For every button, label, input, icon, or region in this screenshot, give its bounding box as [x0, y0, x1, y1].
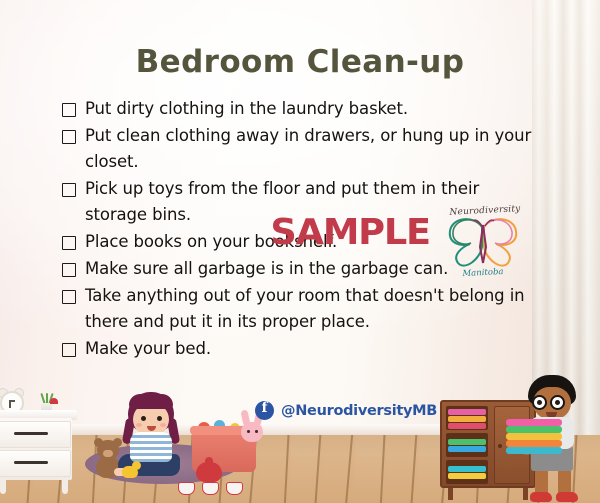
floor-plank [283, 435, 290, 503]
floor-plank-shade [387, 435, 415, 503]
alarm-clock-icon [0, 388, 22, 412]
floor-plank [344, 435, 354, 503]
logo-top-label: Neurodiversity [444, 204, 526, 218]
sample-watermark: SAMPLE [270, 212, 429, 253]
checkbox[interactable] [62, 103, 76, 117]
checklist-item[interactable]: Put clean clothing away in drawers, or h… [62, 123, 532, 175]
poster: Bedroom Clean-up Put dirty clothing in t… [0, 0, 600, 503]
white-nightstand [0, 388, 77, 503]
checkbox[interactable] [62, 290, 76, 304]
floor-plank [410, 435, 418, 503]
checklist-item-label: Take anything out of your room that does… [85, 283, 532, 335]
checklist-item-label: Put dirty clothing in the laundry basket… [85, 96, 408, 122]
boy-character [520, 375, 590, 503]
checklist-item[interactable]: Make your bed. [62, 336, 532, 362]
checkbox[interactable] [62, 263, 76, 277]
page-title: Bedroom Clean-up [0, 44, 600, 80]
floor-plank-shade [323, 435, 351, 503]
toy-tea-set [180, 462, 250, 496]
social-handle[interactable]: @NeurodiversityMB [255, 401, 437, 420]
rubber-duck-toy [122, 466, 138, 478]
checklist-item-label: Put clean clothing away in drawers, or h… [85, 123, 532, 175]
floor-plank-shade [355, 435, 383, 503]
butterfly-icon [444, 217, 522, 269]
neurodiversity-manitoba-logo: Neurodiversity Manitoba [440, 206, 526, 284]
floor-plank [314, 435, 322, 503]
floor-plank [379, 435, 386, 503]
checklist-item[interactable]: Put dirty clothing in the laundry basket… [62, 96, 532, 122]
checkbox[interactable] [62, 130, 76, 144]
checklist-item[interactable]: Take anything out of your room that does… [62, 283, 532, 335]
checklist-item-label: Make your bed. [85, 336, 211, 362]
checklist-item-label: Make sure all garbage is in the garbage … [85, 256, 448, 282]
facebook-icon[interactable] [255, 401, 274, 420]
checkbox[interactable] [62, 183, 76, 197]
checkbox[interactable] [62, 343, 76, 357]
folded-clothes-stack [506, 419, 562, 453]
social-handle-label: @NeurodiversityMB [281, 403, 437, 419]
checkbox[interactable] [62, 236, 76, 250]
floor-plank-shade [291, 435, 319, 503]
